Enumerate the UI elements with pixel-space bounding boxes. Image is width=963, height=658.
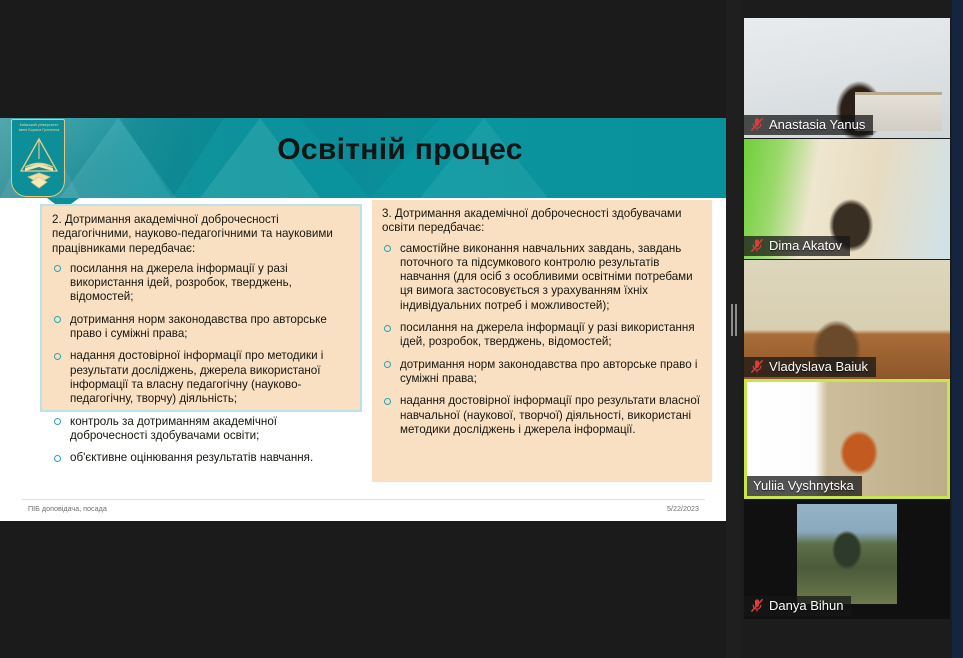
bullet-ring-icon <box>384 398 391 405</box>
list-item-text: надання достовірної інформації про резул… <box>400 394 700 436</box>
slide-content-box-left: 2. Дотримання академічної доброчесності … <box>40 204 362 412</box>
slide-footer-presenter: ПІБ доповідача, посада <box>28 504 107 513</box>
panel-resize-handle[interactable] <box>726 0 742 658</box>
right-box-bullet-list: самостійне виконання навчальних завдань,… <box>382 242 704 438</box>
participant-name: Dima Akatov <box>769 238 842 253</box>
participant-namebar: Danya Bihun <box>744 596 851 616</box>
left-box-heading: 2. Дотримання академічної доброчесності … <box>52 213 352 256</box>
participant-name: Danya Bihun <box>769 598 843 613</box>
list-item-text: контроль за дотриманням академічної добр… <box>70 415 277 442</box>
slide-footer-date: 5/22/2023 <box>667 504 699 513</box>
grip-icon[interactable] <box>731 304 738 336</box>
bullet-ring-icon <box>54 455 61 462</box>
slide-content-box-right: 3. Дотримання академічної доброчесності … <box>372 200 712 482</box>
participant-name: Vladyslava Baiuk <box>769 359 868 374</box>
right-edge-rail <box>952 0 963 658</box>
participant-name: Yuliia Vyshnytska <box>753 478 854 493</box>
slide-footer-divider <box>22 499 705 500</box>
mic-muted-icon <box>750 598 764 613</box>
list-item: надання достовірної інформації про метод… <box>52 349 352 406</box>
list-item-text: надання достовірної інформації про метод… <box>70 349 323 405</box>
bullet-ring-icon <box>54 418 61 425</box>
logo-caption-line-2: імені Бориса Грінченка <box>14 128 64 133</box>
university-logo-icon: Київський університет імені Бориса Грінч… <box>11 119 65 197</box>
bullet-ring-icon <box>384 245 391 252</box>
list-item-text: посилання на джерела інформації у разі в… <box>400 321 695 348</box>
list-item-text: дотримання норм законодавства про авторс… <box>400 358 697 385</box>
participant-tile[interactable]: Danya Bihun <box>744 499 950 619</box>
participant-namebar: Anastasia Yanus <box>744 115 873 135</box>
list-item: посилання на джерела інформації у разі в… <box>382 321 704 350</box>
participant-gallery[interactable]: Anastasia Yanus Dima Akatov <box>742 0 952 658</box>
participant-namebar: Yuliia Vyshnytska <box>747 476 862 496</box>
participant-name: Anastasia Yanus <box>769 117 865 132</box>
mic-muted-icon <box>750 117 764 132</box>
right-box-heading: 3. Дотримання академічної доброчесності … <box>382 207 704 236</box>
list-item: посилання на джерела інформації у разі в… <box>52 262 352 305</box>
participant-tile[interactable]: Vladyslava Baiuk <box>744 260 950 380</box>
list-item: надання достовірної інформації про резул… <box>382 394 704 437</box>
list-item: контроль за дотриманням академічної добр… <box>52 415 352 444</box>
list-item: дотримання норм законодавства про авторс… <box>382 358 704 387</box>
list-item-text: посилання на джерела інформації у разі в… <box>70 262 292 304</box>
mic-muted-icon <box>750 359 764 374</box>
meeting-window: Київський університет імені Бориса Грінч… <box>0 0 963 658</box>
participant-namebar: Dima Akatov <box>744 236 850 256</box>
mic-muted-icon <box>750 238 764 253</box>
slide-footer-divider-warm <box>375 499 705 500</box>
list-item: об'єктивне оцінювання результатів навчан… <box>52 451 352 465</box>
bullet-ring-icon <box>54 316 61 323</box>
list-item: самостійне виконання навчальних завдань,… <box>382 242 704 313</box>
avatar <box>797 504 897 604</box>
left-box-bullet-list: посилання на джерела інформації у разі в… <box>52 262 352 466</box>
shared-screen-stage[interactable]: Київський університет імені Бориса Грінч… <box>0 0 732 658</box>
list-item-text: дотримання норм законодавства про авторс… <box>70 313 327 340</box>
list-item: дотримання норм законодавства про авторс… <box>52 313 352 342</box>
list-item-text: об'єктивне оцінювання результатів навчан… <box>70 451 313 464</box>
presentation-slide[interactable]: Київський університет імені Бориса Грінч… <box>0 118 727 521</box>
bullet-ring-icon <box>384 361 391 368</box>
bullet-ring-icon <box>54 353 61 360</box>
list-item-text: самостійне виконання навчальних завдань,… <box>400 242 693 312</box>
bullet-ring-icon <box>384 325 391 332</box>
bullet-ring-icon <box>54 265 61 272</box>
slide-title: Освітній процес <box>120 133 680 167</box>
participant-tile-active-speaker[interactable]: Yuliia Vyshnytska <box>744 379 950 499</box>
logo-emblem-icon <box>19 137 59 191</box>
participant-tile[interactable]: Dima Akatov <box>744 139 950 259</box>
participant-namebar: Vladyslava Baiuk <box>744 357 876 377</box>
participant-tile[interactable]: Anastasia Yanus <box>744 18 950 138</box>
